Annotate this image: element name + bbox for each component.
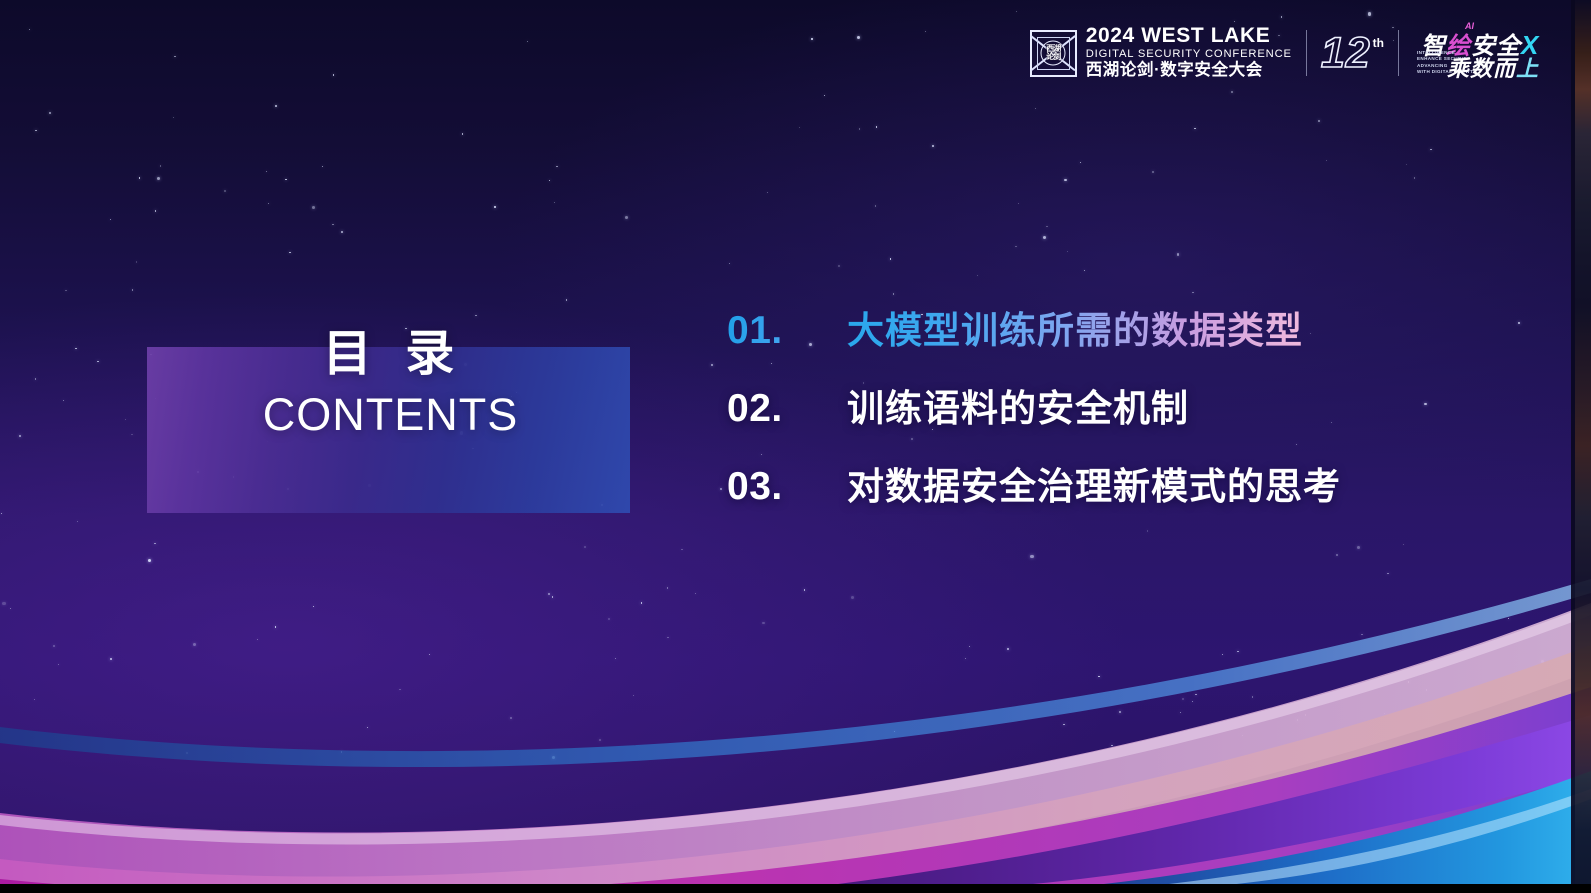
agenda-item-02[interactable]: 02. 训练语料的安全机制: [727, 378, 1341, 456]
bottom-wave-decoration: [0, 563, 1591, 893]
right-edge-sliver: [1571, 0, 1591, 893]
west-lake-emblem-icon: 西湖论剑: [1030, 30, 1077, 77]
bottom-letterbox: [0, 884, 1591, 893]
agenda-label-03: 对数据安全治理新模式的思考: [847, 456, 1341, 510]
contents-title-en: CONTENTS: [147, 385, 630, 446]
agenda-item-01[interactable]: 01. 大模型训练所需的数据类型: [727, 300, 1341, 378]
agenda-number-01: 01.: [727, 309, 847, 353]
conference-name-cn: 西湖论剑·数字安全大会: [1086, 61, 1292, 81]
emblem-glyph: 西湖论剑: [1041, 45, 1065, 61]
theme-line-2: 乘数而上: [1447, 51, 1539, 83]
contents-title-cn: 目 录: [147, 330, 630, 379]
theme-line2-accent: 上: [1516, 56, 1539, 81]
theme-sub-3: ADVANCING: [1417, 63, 1448, 68]
theme-line2-text: 乘数而: [1447, 56, 1516, 81]
anniversary-number: 12: [1321, 32, 1371, 74]
header-divider-2: [1398, 30, 1399, 76]
agenda-number-02: 02.: [727, 387, 847, 431]
agenda-label-02: 训练语料的安全机制: [847, 378, 1189, 432]
agenda-label-01: 大模型训练所需的数据类型: [847, 300, 1303, 354]
anniversary-suffix: th: [1373, 36, 1384, 50]
conference-year-name: 2024 WEST LAKE: [1086, 25, 1292, 48]
agenda-list: 01. 大模型训练所需的数据类型 02. 训练语料的安全机制 03. 对数据安全…: [727, 300, 1341, 534]
agenda-number-03: 03.: [727, 465, 847, 509]
conference-title-block: 2024 WEST LAKE DIGITAL SECURITY CONFEREN…: [1086, 25, 1292, 81]
header-logo-lockup: 西湖论剑 2024 WEST LAKE DIGITAL SECURITY CON…: [1030, 24, 1539, 82]
anniversary-badge: 12 th: [1321, 32, 1384, 74]
header-divider-1: [1306, 30, 1307, 76]
conference-subtitle: DIGITAL SECURITY CONFERENCE: [1086, 47, 1292, 61]
contents-panel-text: 目 录 CONTENTS: [147, 330, 630, 450]
agenda-item-03[interactable]: 03. 对数据安全治理新模式的思考: [727, 456, 1341, 534]
presentation-slide: 目 录 CONTENTS 01. 大模型训练所需的数据类型 02. 训练语料的安…: [0, 0, 1591, 893]
theme-slogan-logo: AI 智绘安全X INTELLIGENCE ENHANCE SECURITY A…: [1413, 24, 1539, 82]
